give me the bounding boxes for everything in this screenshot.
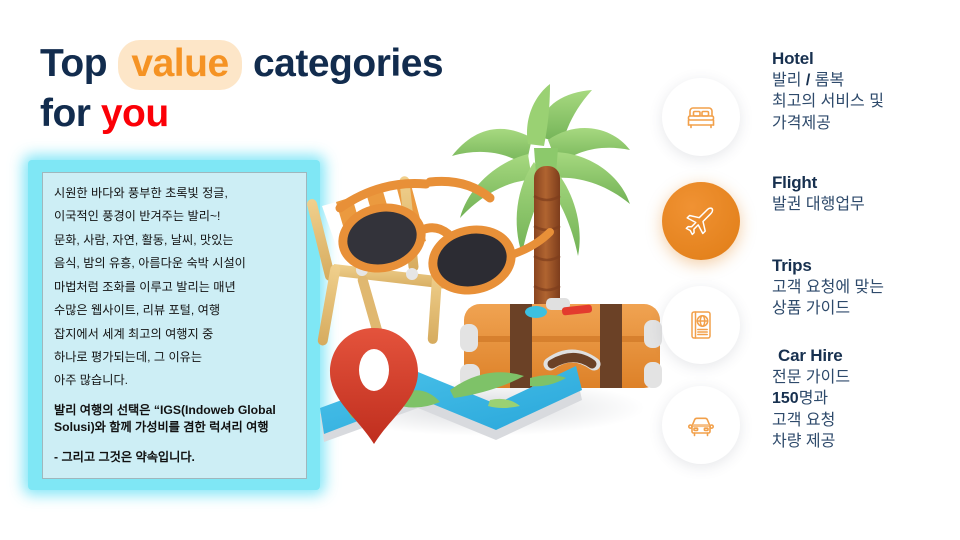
category-icon-car-hire[interactable] (662, 386, 740, 464)
category-line: 고객 요청에 맞는 (772, 277, 952, 298)
category-block-hotel: Hotel 발리 / 롬복 최고의 서비스 및 가격제공 (772, 48, 952, 134)
category-block-car-hire: Car Hire 전문 가이드 150명과 고객 요청 차량 제공 (772, 345, 952, 453)
category-icon-flight[interactable] (662, 182, 740, 260)
category-title: Hotel (772, 48, 952, 70)
category-line: 발리 / 롬복 (772, 70, 952, 91)
description-line: 잡지에서 세계 최고의 여행지 중 (54, 323, 295, 346)
description-line: 아주 많습니다. (54, 369, 295, 392)
category-title: Flight (772, 172, 952, 194)
category-line: 가격제공 (772, 113, 952, 134)
description-bold-paragraph: 발리 여행의 선택은 “IGS(Indoweb Global Solusi)와 … (54, 402, 295, 437)
title-part-for: for (40, 92, 101, 135)
description-line: 이국적인 풍경이 반겨주는 발리~! (54, 205, 295, 228)
sticker-blue (525, 306, 547, 318)
category-line: 150명과 (772, 388, 952, 409)
description-line: 수많은 웹사이트, 리뷰 포털, 여행 (54, 299, 295, 322)
description-line: 마법처럼 조화를 이루고 발리는 매년 (54, 276, 295, 299)
category-title: Car Hire (772, 345, 952, 367)
airplane-icon (682, 202, 720, 240)
category-block-flight: Flight 발권 대행업무 (772, 172, 952, 215)
title-part-top: Top (40, 42, 117, 85)
category-line: 최고의 서비스 및 (772, 91, 952, 112)
bed-icon (683, 99, 719, 135)
slide-canvas: Top value categories for you 시원한 바다와 풍부한… (0, 0, 960, 540)
description-line: 하나로 평가되는데, 그 이유는 (54, 346, 295, 369)
description-line: 음식, 밤의 유흥, 아름다운 숙박 시설이 (54, 252, 295, 275)
category-icon-trips[interactable] (662, 286, 740, 364)
description-box: 시원한 바다와 풍부한 초록빛 정글, 이국적인 풍경이 반겨주는 발리~! 문… (42, 172, 307, 479)
passport-icon (684, 308, 718, 342)
category-block-trips: Trips 고객 요청에 맞는 상품 가이드 (772, 255, 952, 320)
category-line: 전문 가이드 (772, 367, 952, 388)
category-line: 고객 요청 (772, 410, 952, 431)
category-icon-hotel[interactable] (662, 78, 740, 156)
title-highlight-value: value (118, 40, 241, 90)
title-highlight-you: you (101, 92, 169, 135)
car-icon (683, 407, 719, 443)
category-title: Trips (772, 255, 952, 277)
travel-illustration (300, 78, 670, 478)
category-line: 상품 가이드 (772, 298, 952, 319)
category-line: 차량 제공 (772, 431, 952, 452)
description-line: 문화, 사람, 자연, 활동, 날씨, 맛있는 (54, 229, 295, 252)
description-line: 시원한 바다와 풍부한 초록빛 정글, (54, 182, 295, 205)
category-line: 발권 대행업무 (772, 194, 952, 215)
description-closing: - 그리고 그것은 약속입니다. (54, 449, 295, 466)
